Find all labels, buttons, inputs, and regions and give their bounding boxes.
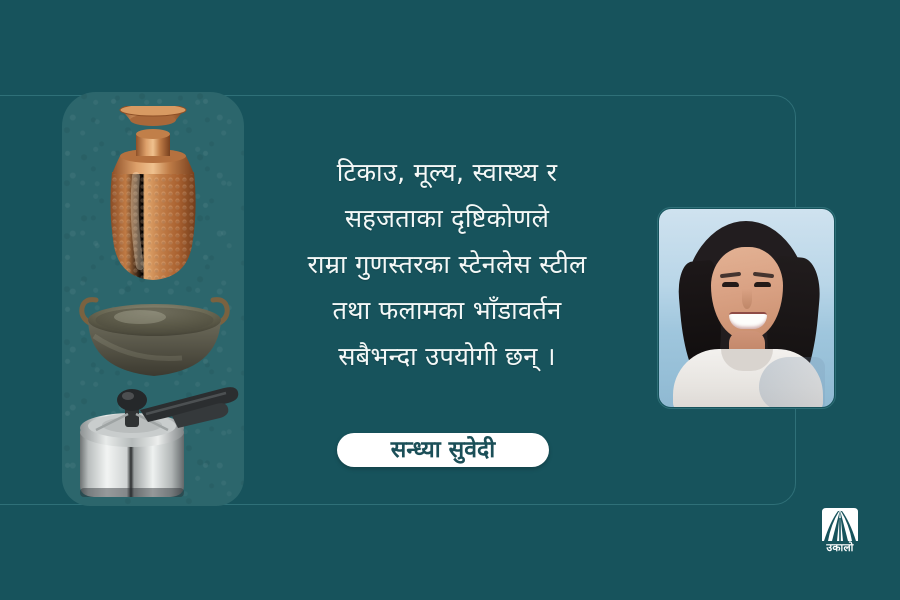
pressure-cooker-image	[66, 370, 242, 500]
ukaalo-logo[interactable]: उकालो	[818, 508, 862, 554]
quote-line-5: सबैभन्दा उपयोगी छन् ।	[252, 334, 642, 380]
logo-wordmark: उकालो	[818, 542, 862, 554]
product-panel	[62, 92, 244, 506]
portrait-frame	[657, 207, 836, 409]
uphill-path-icon	[818, 508, 862, 541]
portrait-eye-left	[722, 282, 739, 287]
quote-line-3: राम्रा गुणस्तरका स्टेनलेस स्टील	[252, 242, 642, 288]
quote-line-2: सहजताका दृष्टिकोणले	[252, 196, 642, 242]
portrait-eye-right	[754, 282, 771, 287]
portrait-nose	[742, 289, 752, 309]
iron-karahi-image	[72, 284, 237, 382]
attribution-name: सन्ध्या सुवेदी	[391, 439, 495, 462]
quote-card: टिकाउ, मूल्य, स्वास्थ्य र सहजताका दृष्टि…	[0, 0, 900, 600]
quote-line-4: तथा फलामका भाँडावर्तन	[252, 288, 642, 334]
attribution-name-badge: सन्ध्या सुवेदी	[337, 433, 549, 467]
quote-line-1: टिकाउ, मूल्य, स्वास्थ्य र	[252, 150, 642, 196]
quote-text: टिकाउ, मूल्य, स्वास्थ्य र सहजताका दृष्टि…	[252, 150, 642, 380]
copper-vessel-image	[90, 106, 216, 286]
portrait-photo	[659, 209, 834, 407]
portrait-shoulder-shadow	[759, 357, 825, 407]
